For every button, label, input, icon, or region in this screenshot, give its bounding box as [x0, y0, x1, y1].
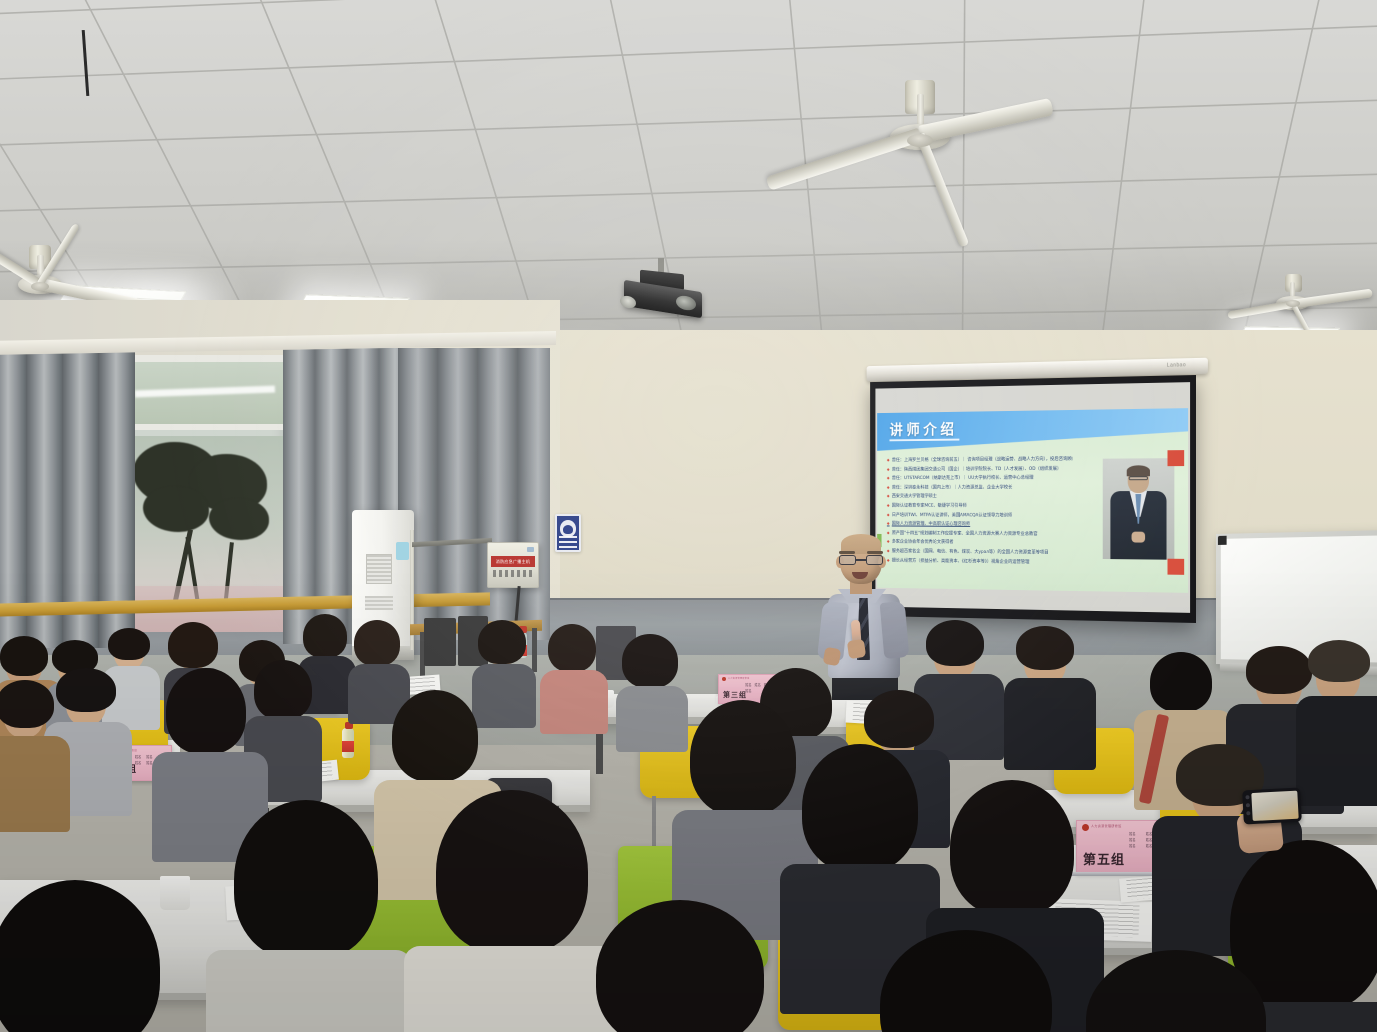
fan-downrod: [917, 94, 924, 126]
camera-lens-icon: [1246, 811, 1250, 815]
placard-name: 姓名: [1129, 831, 1144, 836]
screen-surface: 讲师介绍 曾任：上海罗兰贝格（全球咨询前五）｜ 咨询项目经理（战略运营、战略人力…: [875, 382, 1190, 613]
person-hair: [166, 668, 246, 754]
person-body: [206, 950, 412, 1032]
person-hair: [864, 690, 934, 748]
placard-name: 姓名: [745, 682, 752, 687]
water-bottle: [342, 728, 354, 758]
control-box-label: 消防应急广播主机: [491, 556, 535, 567]
control-box-sub-text: [493, 570, 533, 577]
screen-brand-badge: Lanbao: [1167, 362, 1186, 368]
presentation-slide: 讲师介绍 曾任：上海罗兰贝格（全球咨询前五）｜ 咨询项目经理（战略运营、战略人力…: [877, 408, 1188, 593]
person-hair: [56, 668, 116, 712]
person-hair: [622, 634, 678, 688]
ac-display-panel[interactable]: [396, 542, 409, 560]
photo-hands: [1132, 532, 1146, 543]
person-hair: [1308, 640, 1370, 682]
hazard-icon: [560, 520, 576, 537]
placard-name: 姓名: [1129, 837, 1144, 842]
placard-org-text: 人力资源管理研修班: [1091, 824, 1122, 828]
glasses-icon: [839, 555, 883, 565]
fire-alarm-control-box[interactable]: 消防应急广播主机: [487, 542, 539, 588]
slide-instructor-photo: [1103, 458, 1175, 560]
photo-glasses-icon: [1129, 476, 1148, 480]
ceiling-projector: [618, 272, 710, 330]
placard-name: 姓名: [1129, 843, 1144, 848]
person-hair: [478, 620, 526, 664]
camera-lens-icon: [1246, 803, 1250, 807]
chair-leg: [652, 796, 656, 852]
person-hair: [254, 660, 312, 720]
person-hair: [0, 636, 48, 676]
paper-cup: [160, 876, 190, 910]
control-box-label-text: 消防应急广播主机: [491, 556, 535, 567]
ac-grille: [366, 554, 392, 584]
ac-lower-vent: [365, 596, 393, 610]
person-body: [404, 946, 620, 1032]
person-hair: [1016, 626, 1074, 670]
person-hair: [802, 744, 918, 872]
presenter-eyebrow: [839, 551, 855, 554]
side-table-leg: [532, 628, 537, 672]
tree-foliage: [209, 498, 269, 540]
phone-screen[interactable]: [1251, 791, 1298, 821]
person-body: [1004, 678, 1096, 770]
placard-group-label: 第三组: [723, 690, 747, 700]
status-led: [527, 547, 534, 552]
person-hair: [436, 790, 588, 954]
photo-hair: [1127, 465, 1150, 476]
person-hair: [234, 800, 378, 960]
bottle-label: [342, 741, 354, 752]
placard-name: 姓名: [755, 682, 762, 687]
person-hair: [168, 622, 218, 668]
fan-hubcap: [1286, 300, 1300, 307]
classroom-photo: 消防应急广播主机 Lanbao 讲师介绍 曾任：上海罗兰贝格（全球咨询前五）｜ …: [0, 0, 1377, 1032]
slide-accent-square: [1168, 559, 1185, 575]
slide-bullet: 国际认证教育专家MCE、敏捷学习引导师: [887, 502, 1072, 511]
placard-name: 姓名: [745, 688, 752, 693]
slide-bullet: 曾任：陕西煤团集团交通公司（国企）｜培训学院院长、TD（人才发展）、OD（组织发…: [887, 464, 1072, 474]
window-transom: [127, 362, 283, 430]
slide-accent-square: [1168, 450, 1185, 466]
fan-hubcap: [31, 282, 49, 291]
sign-text-lines: [559, 536, 577, 548]
glasses-lens: [839, 555, 856, 565]
glasses-lens: [866, 555, 883, 565]
fan-hubcap: [907, 134, 933, 147]
person-hair: [548, 624, 596, 672]
person-hair: [0, 680, 54, 728]
person-hair: [1150, 652, 1212, 712]
tree-foliage: [143, 486, 209, 532]
glasses-bridge: [856, 559, 866, 561]
presenter-arm-right: [880, 601, 910, 659]
ceiling-fan-center: [840, 94, 1000, 214]
whiteboard-corner-cap: [1218, 536, 1227, 545]
person-hair: [108, 628, 150, 660]
fan-blade: [1227, 300, 1293, 319]
placard-group-label: 第五组: [1083, 849, 1125, 868]
person-body: [540, 670, 608, 734]
window: [120, 355, 290, 625]
person-hair: [392, 690, 478, 782]
person-hair: [926, 620, 984, 666]
slide-title: 讲师介绍: [890, 419, 958, 440]
electrical-hazard-sign: [555, 514, 581, 552]
placard-logo-icon: [722, 677, 726, 681]
placard-name: 姓名: [135, 754, 144, 759]
slide-bullet: 曾任：深圳泰永科技（国内上市）｜人力资源总监、企业大学校长: [887, 483, 1072, 493]
person-hair: [303, 614, 347, 658]
placard-name: 姓名: [135, 760, 144, 765]
person-hair: [950, 780, 1074, 916]
person-hair: [690, 700, 796, 816]
window-glare: [135, 386, 275, 398]
slide-bullet: 西安交通大学管理学硕士: [887, 493, 1072, 502]
presenter-hand-holding-mic: [847, 639, 866, 659]
placard-org-text: 人力资源管理研修班: [728, 677, 750, 680]
placard-logo-icon: [1082, 824, 1089, 831]
presenter-eyebrow: [867, 551, 883, 554]
person-hair: [1246, 646, 1312, 694]
folded-chair: [424, 618, 456, 666]
person-body: [616, 686, 688, 752]
person-hair: [354, 620, 400, 666]
person-body: [0, 736, 70, 832]
smartphone[interactable]: [1242, 788, 1302, 825]
camera-lens-icon: [1245, 795, 1249, 799]
slide-bullet: 曾任：UTSTARCOM（纳斯达克上市）｜ UU大学执行校长、运营中心总经理: [887, 474, 1072, 484]
person-body: [472, 664, 536, 728]
person-body: [1296, 696, 1377, 806]
